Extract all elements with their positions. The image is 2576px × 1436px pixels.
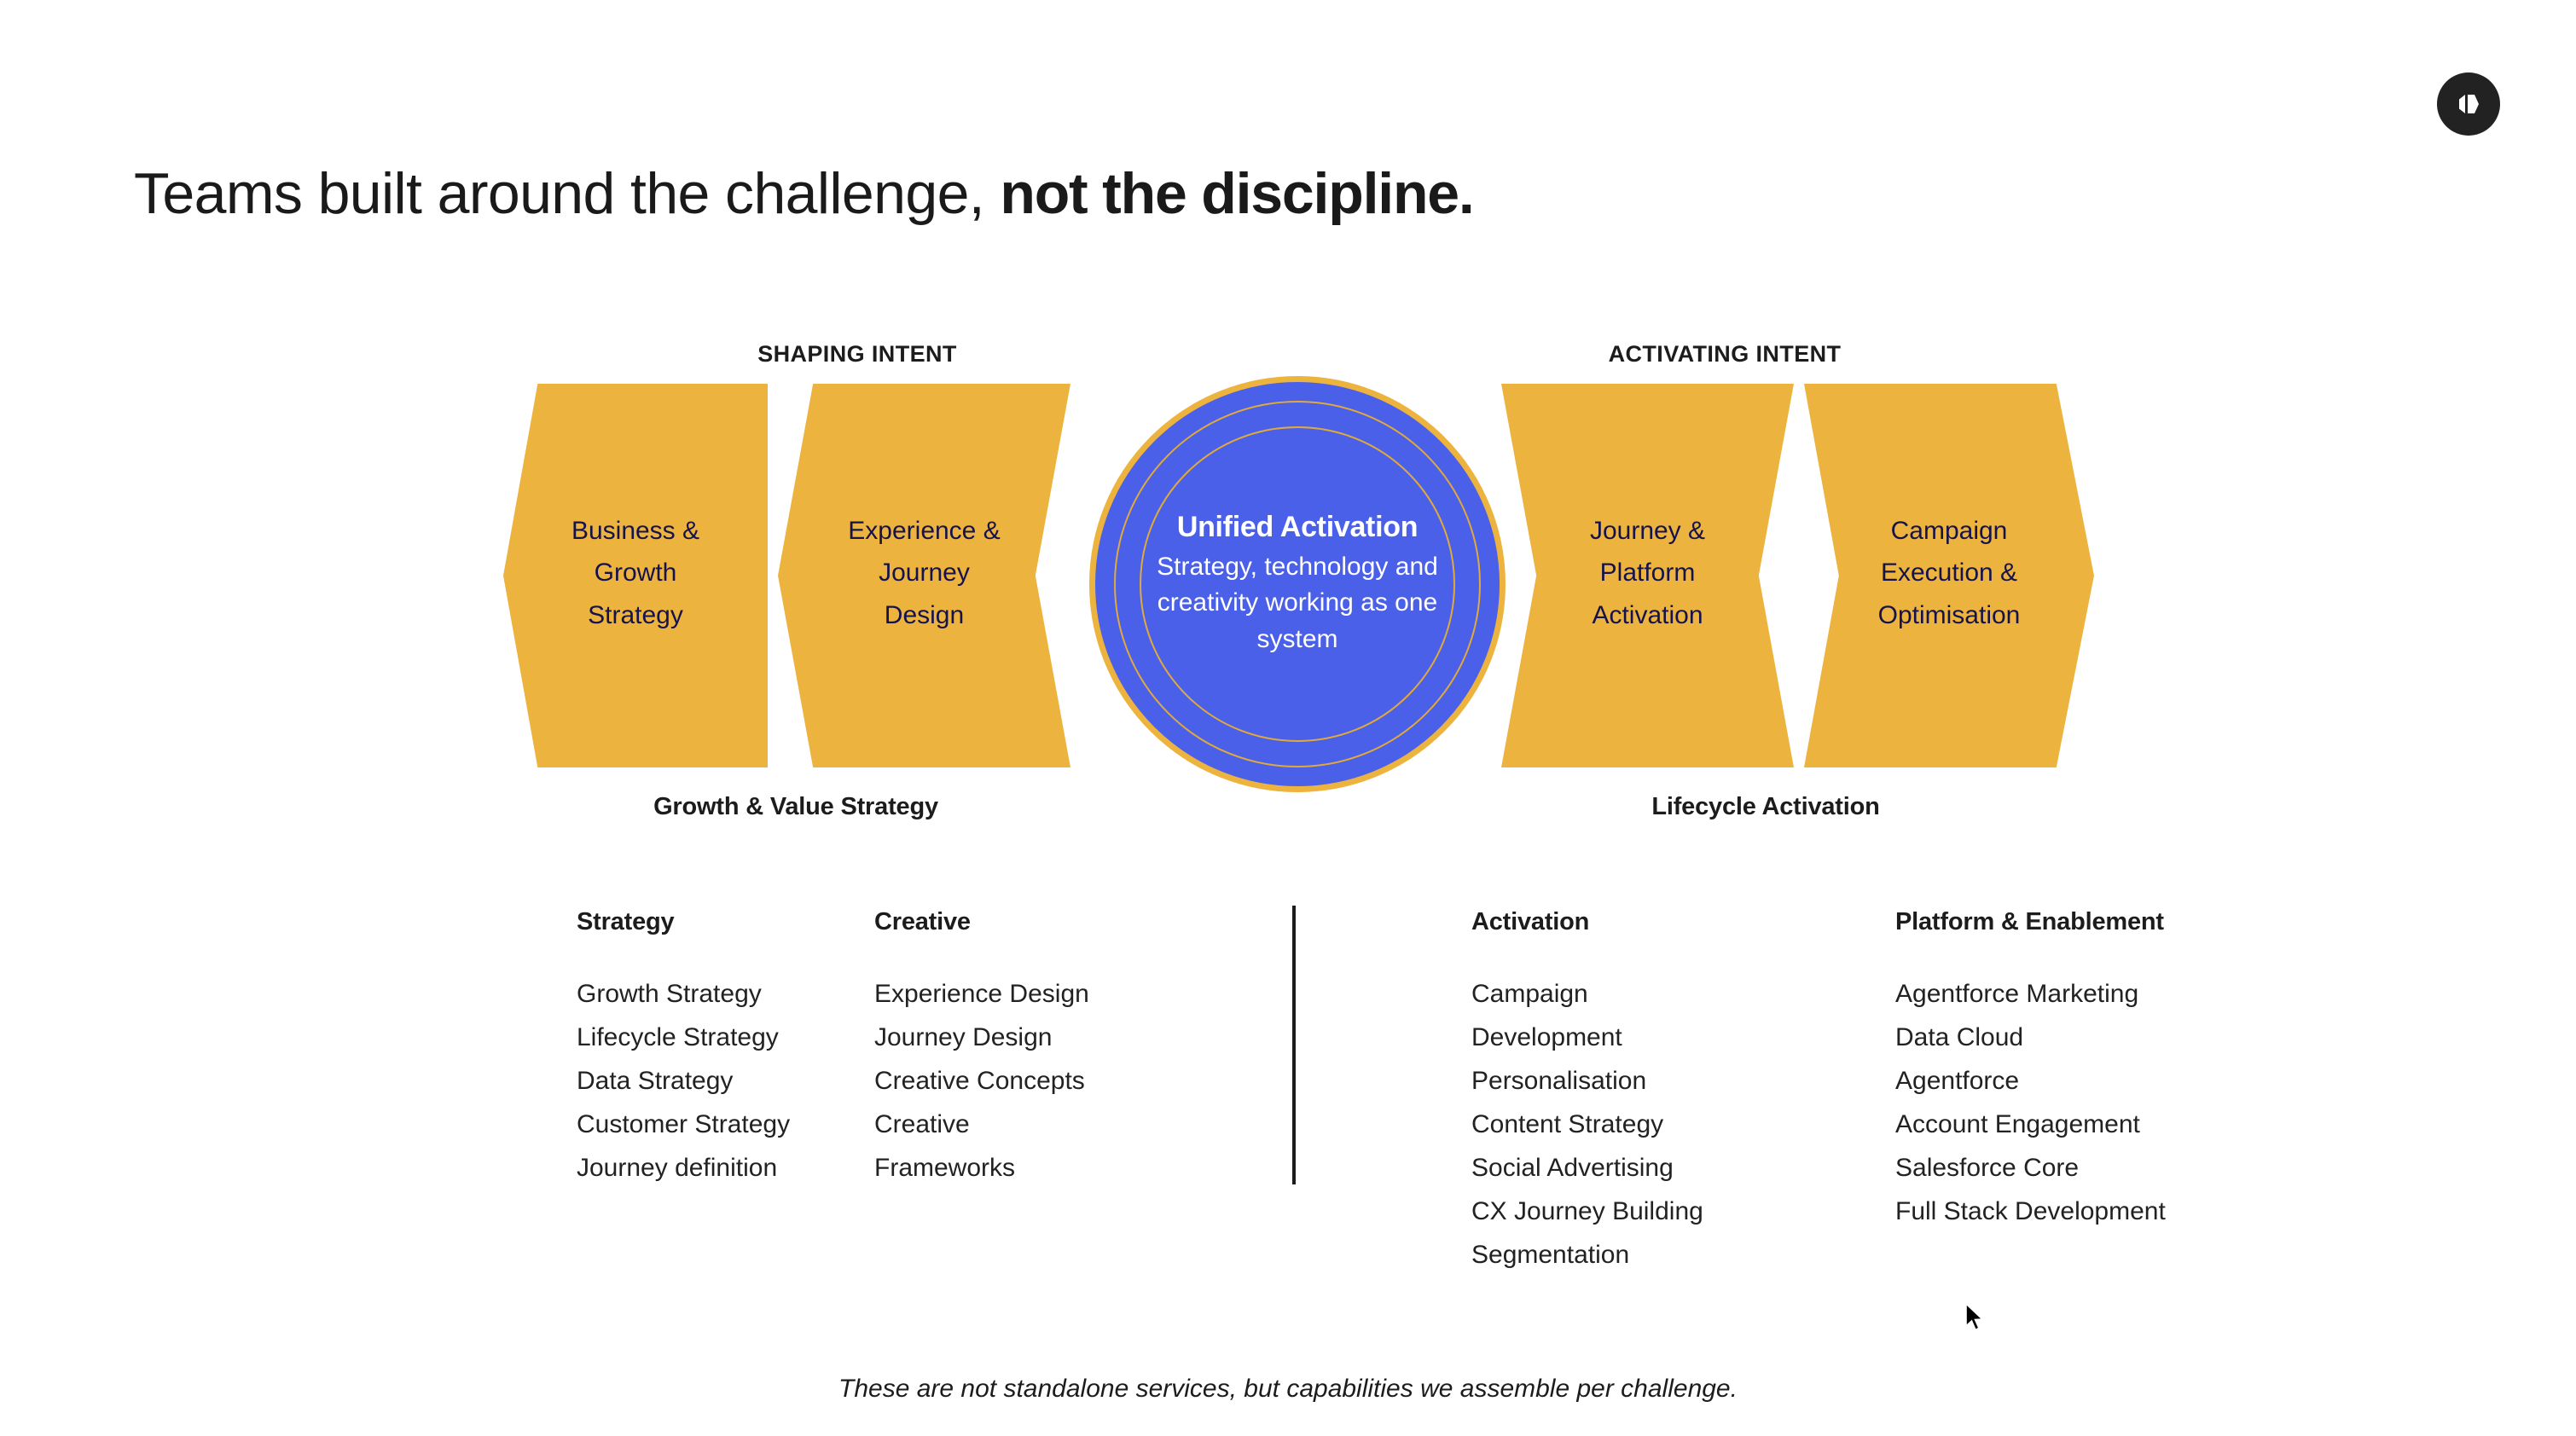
list-item: Growth Strategy [577,972,790,1016]
list-item: Campaign [1471,972,1703,1016]
list-item: Salesforce Core [1895,1146,2166,1190]
list-item: Segmentation [1471,1233,1703,1277]
footnote: These are not standalone services, but c… [0,1375,2576,1404]
list-item: Data Strategy [577,1059,790,1103]
list-item: Data Cloud [1895,1016,2166,1059]
list-item: Development [1471,1016,1703,1059]
hub-subtitle: Strategy, technology and creativity work… [1144,549,1451,658]
column-list: Growth Strategy Lifecycle Strategy Data … [577,972,790,1190]
list-item: Frameworks [874,1146,1089,1190]
list-item: Creative Concepts [874,1059,1089,1103]
column-heading: Strategy [577,908,790,936]
list-item: Account Engagement [1895,1103,2166,1146]
list-item: Full Stack Development [1895,1190,2166,1233]
list-item: Lifecycle Strategy [577,1016,790,1059]
column-heading: Activation [1471,908,1703,936]
column-activation: Activation Campaign Development Personal… [1471,908,1703,1277]
list-item: Creative [874,1103,1089,1146]
column-platform-enablement: Platform & Enablement Agentforce Marketi… [1895,908,2166,1233]
list-item: Social Advertising [1471,1146,1703,1190]
list-item: Content Strategy [1471,1103,1703,1146]
list-item: Personalisation [1471,1059,1703,1103]
hub-title: Unified Activation [1177,511,1418,544]
column-strategy: Strategy Growth Strategy Lifecycle Strat… [577,908,790,1190]
list-item: Agentforce [1895,1059,2166,1103]
column-heading: Platform & Enablement [1895,908,2166,936]
column-list: Agentforce Marketing Data Cloud Agentfor… [1895,972,2166,1233]
column-list: Campaign Development Personalisation Con… [1471,972,1703,1277]
list-item: Journey definition [577,1146,790,1190]
column-creative: Creative Experience Design Journey Desig… [874,908,1089,1190]
list-item: Experience Design [874,972,1089,1016]
column-heading: Creative [874,908,1089,936]
list-item: Journey Design [874,1016,1089,1059]
list-item: Agentforce Marketing [1895,972,2166,1016]
list-item: Customer Strategy [577,1103,790,1146]
column-group-divider [1292,906,1296,1184]
list-item: CX Journey Building [1471,1190,1703,1233]
column-list: Experience Design Journey Design Creativ… [874,972,1089,1190]
unified-activation-hub[interactable]: Unified Activation Strategy, technology … [1089,376,1506,792]
